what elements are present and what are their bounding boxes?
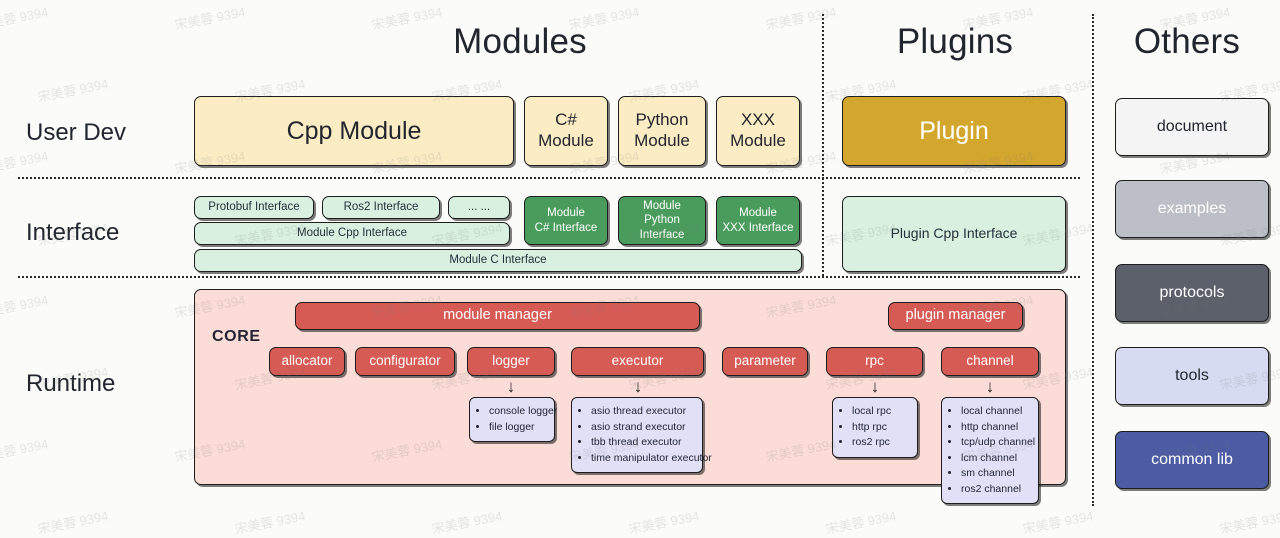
divider-modules-plugins — [822, 14, 824, 276]
node-label: Python Module — [634, 110, 690, 151]
node-more-interfaces[interactable]: ... ... — [448, 196, 510, 219]
node-label: examples — [1158, 200, 1226, 218]
detail-list-item: time manipulator executor — [591, 451, 694, 467]
arrow-down-icon: ↓ — [504, 378, 518, 396]
node-label: Module C Interface — [449, 253, 546, 267]
node-label: document — [1157, 118, 1227, 136]
node-label: module manager — [443, 307, 552, 325]
row-label-runtime: Runtime — [26, 370, 115, 398]
arrow-down-icon: ↓ — [631, 378, 645, 396]
detail-list-item: console logger — [489, 404, 546, 420]
detail-list-item: tcp/udp channel — [961, 435, 1030, 451]
watermark-text: 宋美蓉 9394 — [0, 1, 49, 33]
detail-list-item: asio thread executor — [591, 404, 694, 420]
node-label: parameter — [734, 353, 796, 369]
node-plugin-manager[interactable]: plugin manager — [888, 302, 1023, 330]
node-label: channel — [966, 353, 1013, 369]
node-label: Cpp Module — [287, 116, 422, 147]
node-module-python-interface[interactable]: Module Python Interface — [618, 196, 706, 245]
node-label: rpc — [865, 353, 884, 369]
node-label: XXX Module — [730, 110, 786, 151]
node-label: logger — [492, 353, 530, 369]
node-module-cpp-interface[interactable]: Module Cpp Interface — [194, 222, 510, 245]
node-examples[interactable]: examples — [1115, 180, 1269, 238]
arrow-down-icon: ↓ — [983, 378, 997, 396]
watermark-text: 宋美蓉 9394 — [1218, 505, 1280, 537]
detail-list-item: asio strand executor — [591, 420, 694, 436]
node-python-module[interactable]: Python Module — [618, 96, 706, 166]
node-label: Module Cpp Interface — [297, 226, 407, 240]
watermark-text: 宋美蓉 9394 — [0, 433, 49, 465]
node-rpc[interactable]: rpc — [826, 347, 923, 376]
node-executor[interactable]: executor — [571, 347, 704, 376]
node-label: executor — [612, 353, 664, 369]
watermark-text: 宋美蓉 9394 — [233, 505, 307, 537]
detail-box-executor: asio thread executorasio strand executor… — [571, 397, 703, 473]
detail-list-item: http channel — [961, 420, 1030, 436]
node-label: common lib — [1151, 451, 1233, 469]
node-module-xxx-interface[interactable]: Module XXX Interface — [716, 196, 800, 245]
node-label: protocols — [1160, 284, 1225, 302]
node-allocator[interactable]: allocator — [269, 347, 345, 376]
row-label-user-dev: User Dev — [26, 119, 126, 147]
watermark-text: 宋美蓉 9394 — [824, 505, 898, 537]
node-logger[interactable]: logger — [467, 347, 555, 376]
node-label: configurator — [369, 353, 440, 369]
node-module-csharp-interface[interactable]: Module C# Interface — [524, 196, 608, 245]
column-title-plugins: Plugins — [830, 22, 1080, 62]
node-channel[interactable]: channel — [941, 347, 1039, 376]
detail-list-item: local channel — [961, 404, 1030, 420]
node-document[interactable]: document — [1115, 98, 1269, 156]
detail-list-item: file logger — [489, 420, 546, 436]
column-title-modules: Modules — [330, 22, 710, 62]
node-ros2-interface[interactable]: Ros2 Interface — [322, 196, 440, 219]
watermark-text: 宋美蓉 9394 — [764, 1, 838, 33]
detail-list-item: ros2 rpc — [852, 435, 909, 451]
node-label: allocator — [281, 353, 332, 369]
detail-box-logger: console loggerfile logger — [469, 397, 555, 442]
node-tools[interactable]: tools — [1115, 347, 1269, 405]
node-configurator[interactable]: configurator — [355, 347, 455, 376]
core-label: CORE — [212, 328, 261, 346]
column-title-others: Others — [1098, 22, 1276, 62]
arrow-down-icon: ↓ — [868, 378, 882, 396]
node-xxx-module[interactable]: XXX Module — [716, 96, 800, 166]
node-module-c-interface[interactable]: Module C Interface — [194, 249, 802, 272]
detail-list-item: tbb thread executor — [591, 435, 694, 451]
detail-list: console loggerfile logger — [476, 404, 546, 435]
detail-list: local rpchttp rpcros2 rpc — [839, 404, 909, 451]
node-label: Plugin — [919, 116, 989, 147]
watermark-text: 宋美蓉 9394 — [36, 505, 110, 537]
divider-user-dev-interface — [18, 177, 1080, 179]
watermark-text: 宋美蓉 9394 — [0, 145, 49, 177]
node-label: Plugin Cpp Interface — [891, 225, 1018, 242]
divider-interface-runtime — [18, 276, 1080, 278]
watermark-text: 宋美蓉 9394 — [0, 289, 49, 321]
detail-list: local channelhttp channeltcp/udp channel… — [948, 404, 1030, 497]
detail-box-rpc: local rpchttp rpcros2 rpc — [832, 397, 918, 458]
node-label: Ros2 Interface — [344, 200, 419, 214]
node-label: Module XXX Interface — [723, 206, 794, 234]
row-label-interface: Interface — [26, 219, 119, 247]
detail-list: asio thread executorasio strand executor… — [578, 404, 694, 466]
watermark-text: 宋美蓉 9394 — [173, 1, 247, 33]
node-csharp-module[interactable]: C# Module — [524, 96, 608, 166]
node-plugin[interactable]: Plugin — [842, 96, 1066, 166]
divider-plugins-others — [1092, 14, 1094, 506]
node-parameter[interactable]: parameter — [722, 347, 808, 376]
watermark-text: 宋美蓉 9394 — [36, 73, 110, 105]
node-label: Protobuf Interface — [208, 200, 299, 214]
node-protobuf-interface[interactable]: Protobuf Interface — [194, 196, 314, 219]
node-label: Module C# Interface — [535, 206, 598, 234]
node-label: ... ... — [468, 200, 490, 214]
detail-box-channel: local channelhttp channeltcp/udp channel… — [941, 397, 1039, 504]
watermark-text: 宋美蓉 9394 — [1021, 505, 1095, 537]
node-label: Module Python Interface — [623, 199, 701, 241]
detail-list-item: http rpc — [852, 420, 909, 436]
node-plugin-cpp-interface[interactable]: Plugin Cpp Interface — [842, 196, 1066, 272]
watermark-text: 宋美蓉 9394 — [627, 505, 701, 537]
watermark-text: 宋美蓉 9394 — [430, 505, 504, 537]
node-module-manager[interactable]: module manager — [295, 302, 700, 330]
node-label: tools — [1175, 367, 1209, 385]
detail-list-item: lcm channel — [961, 451, 1030, 467]
node-common-lib[interactable]: common lib — [1115, 431, 1269, 489]
node-protocols[interactable]: protocols — [1115, 264, 1269, 322]
detail-list-item: sm channel — [961, 466, 1030, 482]
node-label: plugin manager — [906, 307, 1006, 325]
detail-list-item: local rpc — [852, 404, 909, 420]
node-label: C# Module — [538, 110, 594, 151]
node-cpp-module[interactable]: Cpp Module — [194, 96, 514, 166]
detail-list-item: ros2 channel — [961, 482, 1030, 498]
